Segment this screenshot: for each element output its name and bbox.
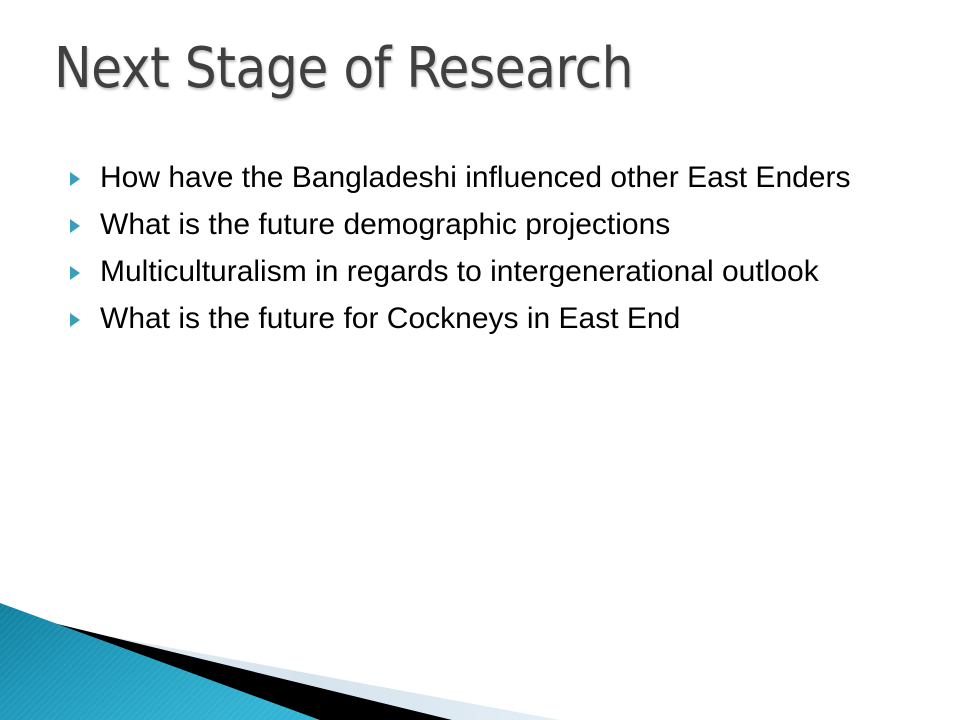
triangle-right-icon <box>68 203 84 247</box>
slide-title: Next Stage of Research <box>54 38 914 100</box>
bullet-list-item: What is the future for Cockneys in East … <box>62 297 910 341</box>
bullet-text: How have the Bangladeshi influenced othe… <box>100 161 850 194</box>
bullet-text: What is the future for Cockneys in East … <box>100 302 680 335</box>
triangle-right-icon <box>68 250 84 294</box>
bullet-list-item: How have the Bangladeshi influenced othe… <box>62 156 910 200</box>
bullet-list-item: What is the future demographic projectio… <box>62 203 910 247</box>
bullet-list: How have the Bangladeshi influenced othe… <box>62 156 942 344</box>
bullet-text: What is the future demographic projectio… <box>100 208 670 241</box>
triangle-right-icon <box>68 156 84 200</box>
triangle-right-icon <box>68 297 84 341</box>
corner-decoration-graphic <box>0 580 960 720</box>
bullet-list-item: Multiculturalism in regards to intergene… <box>62 250 910 294</box>
bullet-text: Multiculturalism in regards to intergene… <box>100 255 819 288</box>
presentation-slide: Next Stage of Research How have the Bang… <box>0 0 960 720</box>
